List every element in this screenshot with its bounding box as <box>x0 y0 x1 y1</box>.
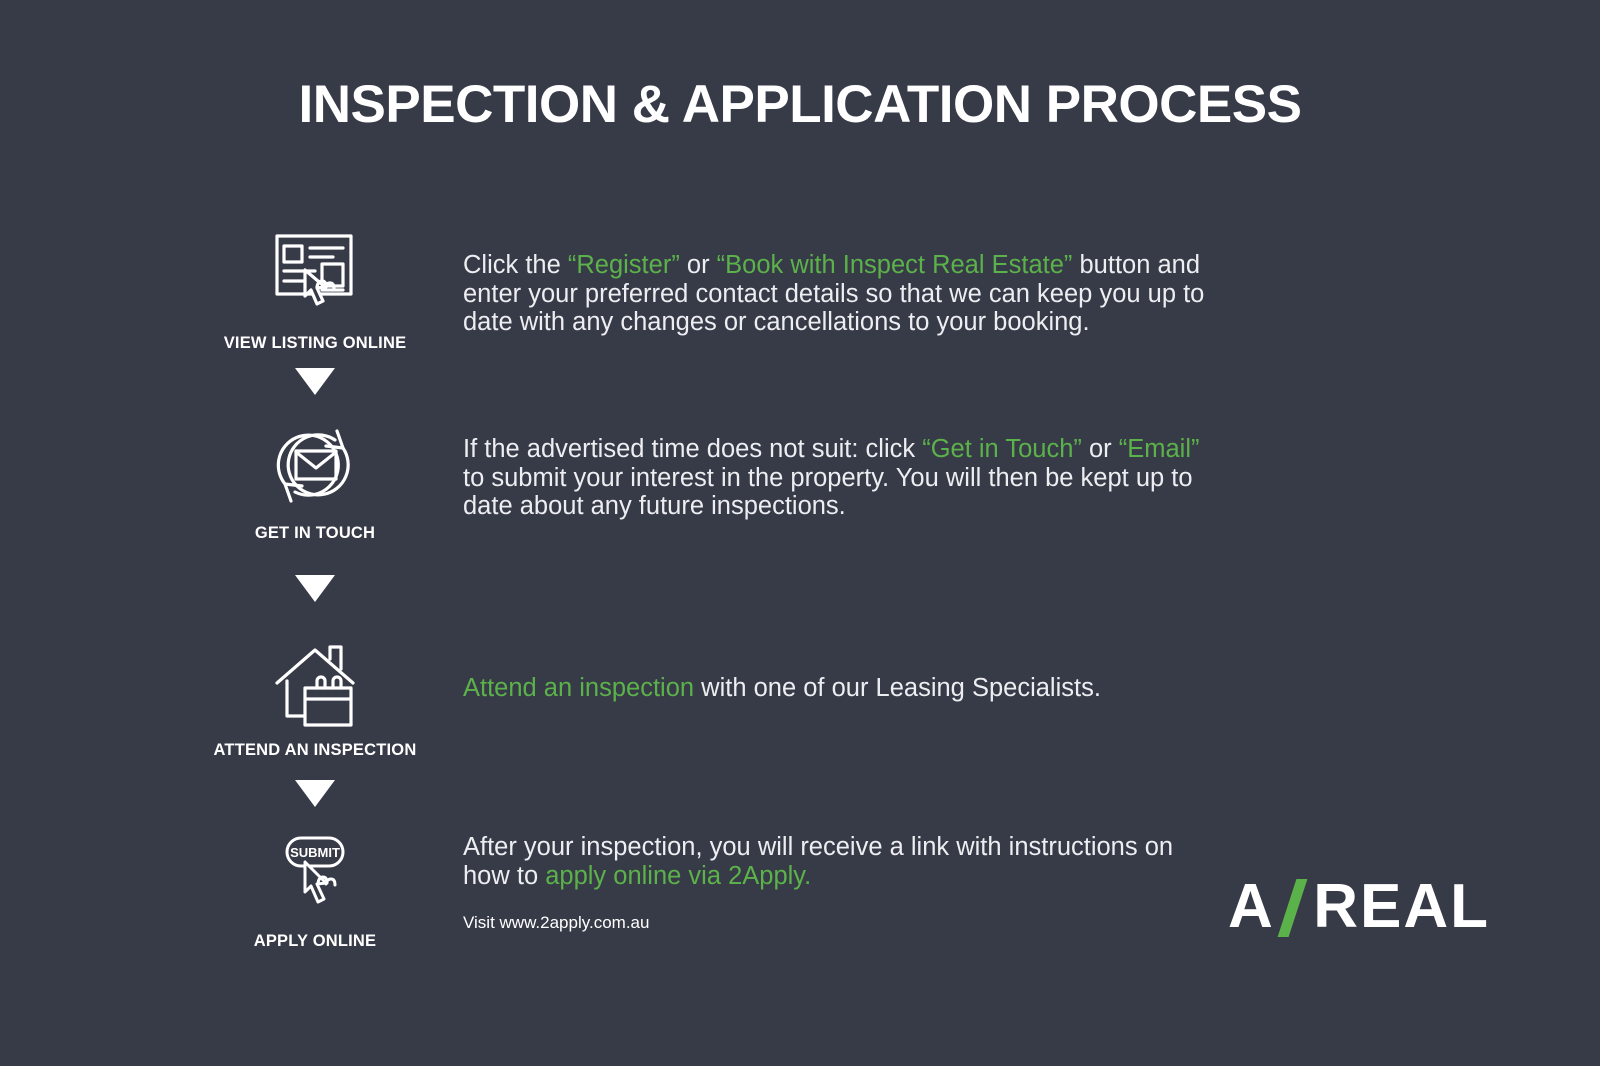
visit-note: Visit www.2apply.com.au <box>463 913 649 933</box>
listing-page-cursor-icon <box>265 224 365 324</box>
chevron-down-icon <box>295 368 335 395</box>
step-2-text-seg-0: If the advertised time does not suit: cl… <box>463 435 922 463</box>
house-calendar-icon <box>263 635 367 731</box>
step-2-body: If the advertised time does not suit: cl… <box>463 435 1223 521</box>
step-4-text-seg-1: apply online via 2Apply. <box>545 862 811 890</box>
chevron-down-icon <box>295 780 335 807</box>
step-2-text-seg-4: to submit your interest in the property.… <box>463 464 1193 521</box>
step-2-icon-column: GET IN TOUCH <box>200 418 430 543</box>
step-1-body: Click the “Register” or “Book with Inspe… <box>463 251 1223 337</box>
step-3-label: ATTEND AN INSPECTION <box>200 741 430 760</box>
logo-slash-icon <box>1275 879 1313 935</box>
step-2-text-seg-2: or <box>1082 435 1119 463</box>
step-3-text-seg-1: with one of our Leasing Specialists. <box>694 674 1101 702</box>
step-3-icon-column: ATTEND AN INSPECTION <box>200 635 430 760</box>
step-1-label: VIEW LISTING ONLINE <box>200 334 430 353</box>
step-3-body: Attend an inspection with one of our Lea… <box>463 674 1223 703</box>
step-1-icon-column: VIEW LISTING ONLINE <box>200 224 430 353</box>
brand-logo: A REAL <box>1228 879 1490 935</box>
step-3-text-seg-0: Attend an inspection <box>463 674 694 702</box>
page-title: INSPECTION & APPLICATION PROCESS <box>0 74 1600 135</box>
step-4-label: APPLY ONLINE <box>200 932 430 951</box>
step-2-text-seg-1: “Get in Touch” <box>922 435 1082 463</box>
submit-button-cursor-icon: SUBMIT <box>265 830 365 922</box>
logo-right-text: REAL <box>1313 876 1490 938</box>
step-4-body: After your inspection, you will receive … <box>463 833 1223 890</box>
step-1-text-seg-0: Click the <box>463 251 568 279</box>
step-2-text-seg-3: “Email” <box>1119 435 1200 463</box>
step-1-text-seg-2: or <box>680 251 717 279</box>
step-4-icon-column: SUBMIT APPLY ONLINE <box>200 830 430 951</box>
step-1-text-seg-1: “Register” <box>568 251 680 279</box>
logo-left-text: A <box>1228 876 1275 938</box>
submit-icon-text: SUBMIT <box>290 845 340 860</box>
chevron-down-icon <box>295 575 335 602</box>
step-1-text-seg-3: “Book with Inspect Real Estate” <box>717 251 1073 279</box>
step-2-label: GET IN TOUCH <box>200 524 430 543</box>
envelope-refresh-icon <box>265 418 365 514</box>
